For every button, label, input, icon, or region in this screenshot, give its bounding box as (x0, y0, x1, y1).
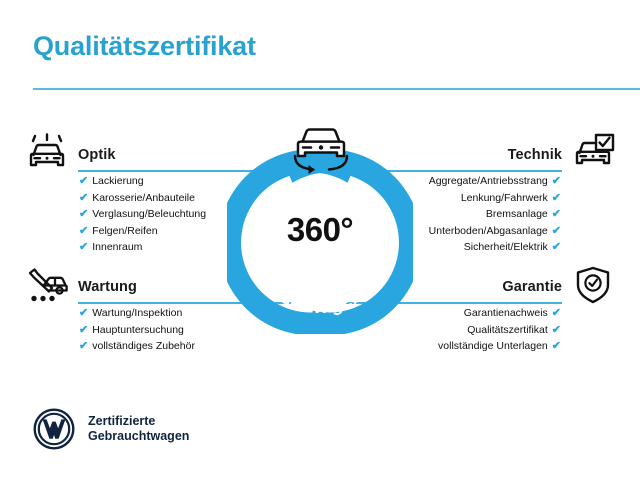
check-icon: ✔ (79, 322, 88, 339)
list-item-label: Bremsanlage (486, 208, 548, 220)
list-item-label: Innenraum (92, 241, 142, 253)
list-item-label: Qualitätszertifikat (467, 324, 548, 336)
check-icon: ✔ (79, 223, 88, 240)
list-item: ✔vollständiges Zubehör (79, 338, 272, 355)
check-icon: ✔ (79, 190, 88, 207)
vw-logo (33, 408, 75, 450)
footer-line-1: Zertifizierte (88, 414, 189, 430)
list-item-label: Hauptuntersuchung (92, 324, 184, 336)
check-icon: ✔ (552, 190, 561, 207)
title-divider (33, 88, 640, 90)
check-icon: ✔ (552, 223, 561, 240)
shield-check-icon (570, 265, 616, 305)
list-item-label: Sicherheit/Elektrik (464, 241, 548, 253)
footer-line-2: Gebrauchtwagen (88, 429, 189, 445)
check-icon: ✔ (552, 338, 561, 355)
car-rotation-icon (283, 123, 359, 176)
list-item-label: Unterboden/Abgasanlage (429, 225, 548, 237)
list-item-label: Aggregate/Antriebsstrang (429, 175, 548, 187)
section-title: Technik (508, 147, 562, 163)
page-title: Qualitätszertifikat (33, 31, 256, 62)
footer-text: Zertifizierte Gebrauchtwagen (88, 414, 189, 445)
check-icon: ✔ (552, 239, 561, 256)
check-icon: ✔ (79, 239, 88, 256)
car-shine-icon (24, 133, 70, 173)
check-icon: ✔ (552, 173, 561, 190)
list-item: vollständige Unterlagen✔ (368, 338, 561, 355)
section-title: Garantie (502, 279, 562, 295)
list-item-label: Lenkung/Fahrwerk (461, 192, 548, 204)
list-item-label: Verglasung/Beleuchtung (92, 208, 206, 220)
footer-brand: Zertifizierte Gebrauchtwagen (33, 408, 189, 450)
check-icon: ✔ (552, 305, 561, 322)
check-icon: ✔ (79, 173, 88, 190)
list-item-label: vollständiges Zubehör (92, 340, 195, 352)
list-item-label: Lackierung (92, 175, 143, 187)
check-icon: ✔ (79, 338, 88, 355)
badge-degrees-label: 360° (227, 211, 413, 249)
check-icon: ✔ (552, 322, 561, 339)
list-item-label: Wartung/Inspektion (92, 307, 182, 319)
check-icon: ✔ (79, 206, 88, 223)
section-title: Optik (78, 147, 116, 163)
check-icon: ✔ (552, 206, 561, 223)
list-item-label: Garantienachweis (464, 307, 548, 319)
list-item-label: Felgen/Reifen (92, 225, 157, 237)
section-title: Wartung (78, 279, 137, 295)
list-item-label: vollständige Unterlagen (438, 340, 548, 352)
car-checkbox-icon (570, 133, 616, 173)
list-item-label: Karosserie/Anbauteile (92, 192, 195, 204)
certificate-page: Qualitätszertifikat (0, 0, 640, 480)
wrench-car-icon (24, 265, 70, 305)
check-icon: ✔ (79, 305, 88, 322)
